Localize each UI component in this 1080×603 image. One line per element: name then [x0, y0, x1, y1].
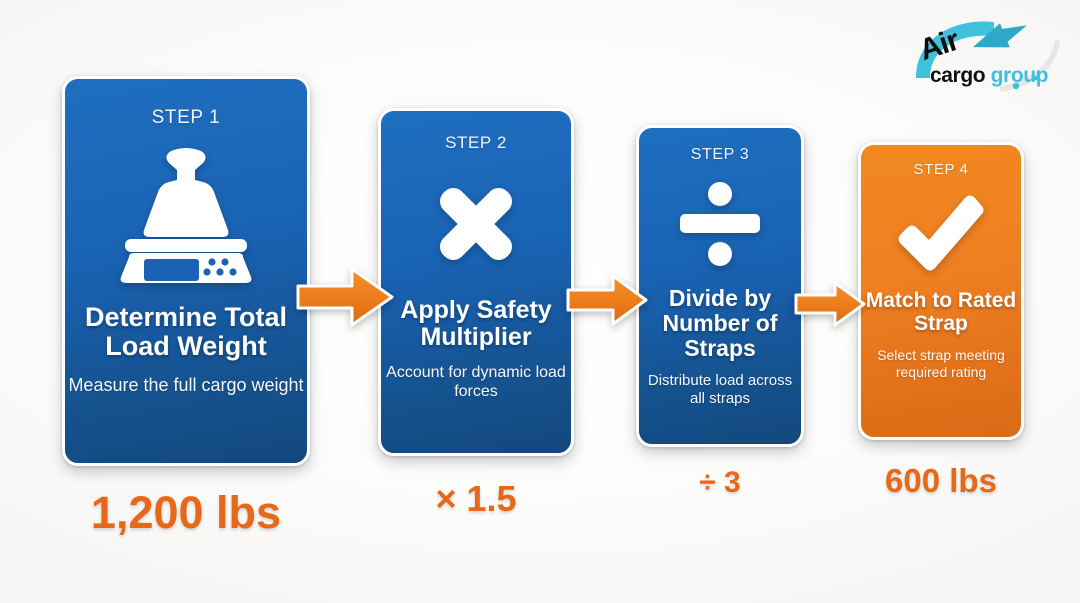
multiply-icon [421, 169, 531, 279]
arrow-right-icon-3 [794, 280, 866, 328]
step-title-2: Apply Safety Multiplier [381, 297, 571, 351]
step-label-3: STEP 3 [691, 146, 749, 164]
arrow-right-icon-2 [566, 273, 648, 327]
brand-logo: Air cargo group [908, 12, 1068, 96]
logo-wordmark: cargo group [930, 64, 1048, 88]
step-card-4[interactable]: STEP 4 Match to Rated Strap Select strap… [858, 142, 1024, 440]
weighing-scale-icon [111, 145, 261, 285]
logo-cargo-text: cargo [930, 64, 985, 87]
step-subtitle-1: Measure the full cargo weight [68, 375, 303, 397]
step-title-4: Match to Rated Strap [861, 290, 1021, 335]
step-label-4: STEP 4 [913, 161, 968, 178]
step-card-2[interactable]: STEP 2 Apply Safety Multiplier Account f… [378, 108, 574, 456]
arrow-right-icon-1 [296, 266, 394, 328]
result-value-3: ÷ 3 [636, 466, 804, 500]
divide-icon [674, 178, 766, 270]
result-value-1: 1,200 lbs [62, 487, 310, 539]
logo-group-text: group [991, 64, 1048, 87]
step-title-3: Divide by Number of Straps [639, 286, 801, 360]
step-card-3[interactable]: STEP 3 Divide by Number of Straps Distri… [636, 125, 804, 447]
step-subtitle-3: Distribute load across all straps [639, 372, 801, 408]
step-label-1: STEP 1 [152, 107, 221, 129]
checkmark-icon [893, 190, 989, 276]
step-card-1[interactable]: STEP 1 Determine Total Load Weight Measu… [62, 76, 310, 466]
step-subtitle-4: Select strap meeting required rating [861, 347, 1021, 381]
step-title-1: Determine Total Load Weight [65, 303, 307, 361]
step-subtitle-2: Account for dynamic load forces [381, 363, 571, 401]
step-label-2: STEP 2 [445, 133, 507, 153]
result-value-2: × 1.5 [378, 478, 574, 520]
result-value-4: 600 lbs [858, 462, 1024, 500]
